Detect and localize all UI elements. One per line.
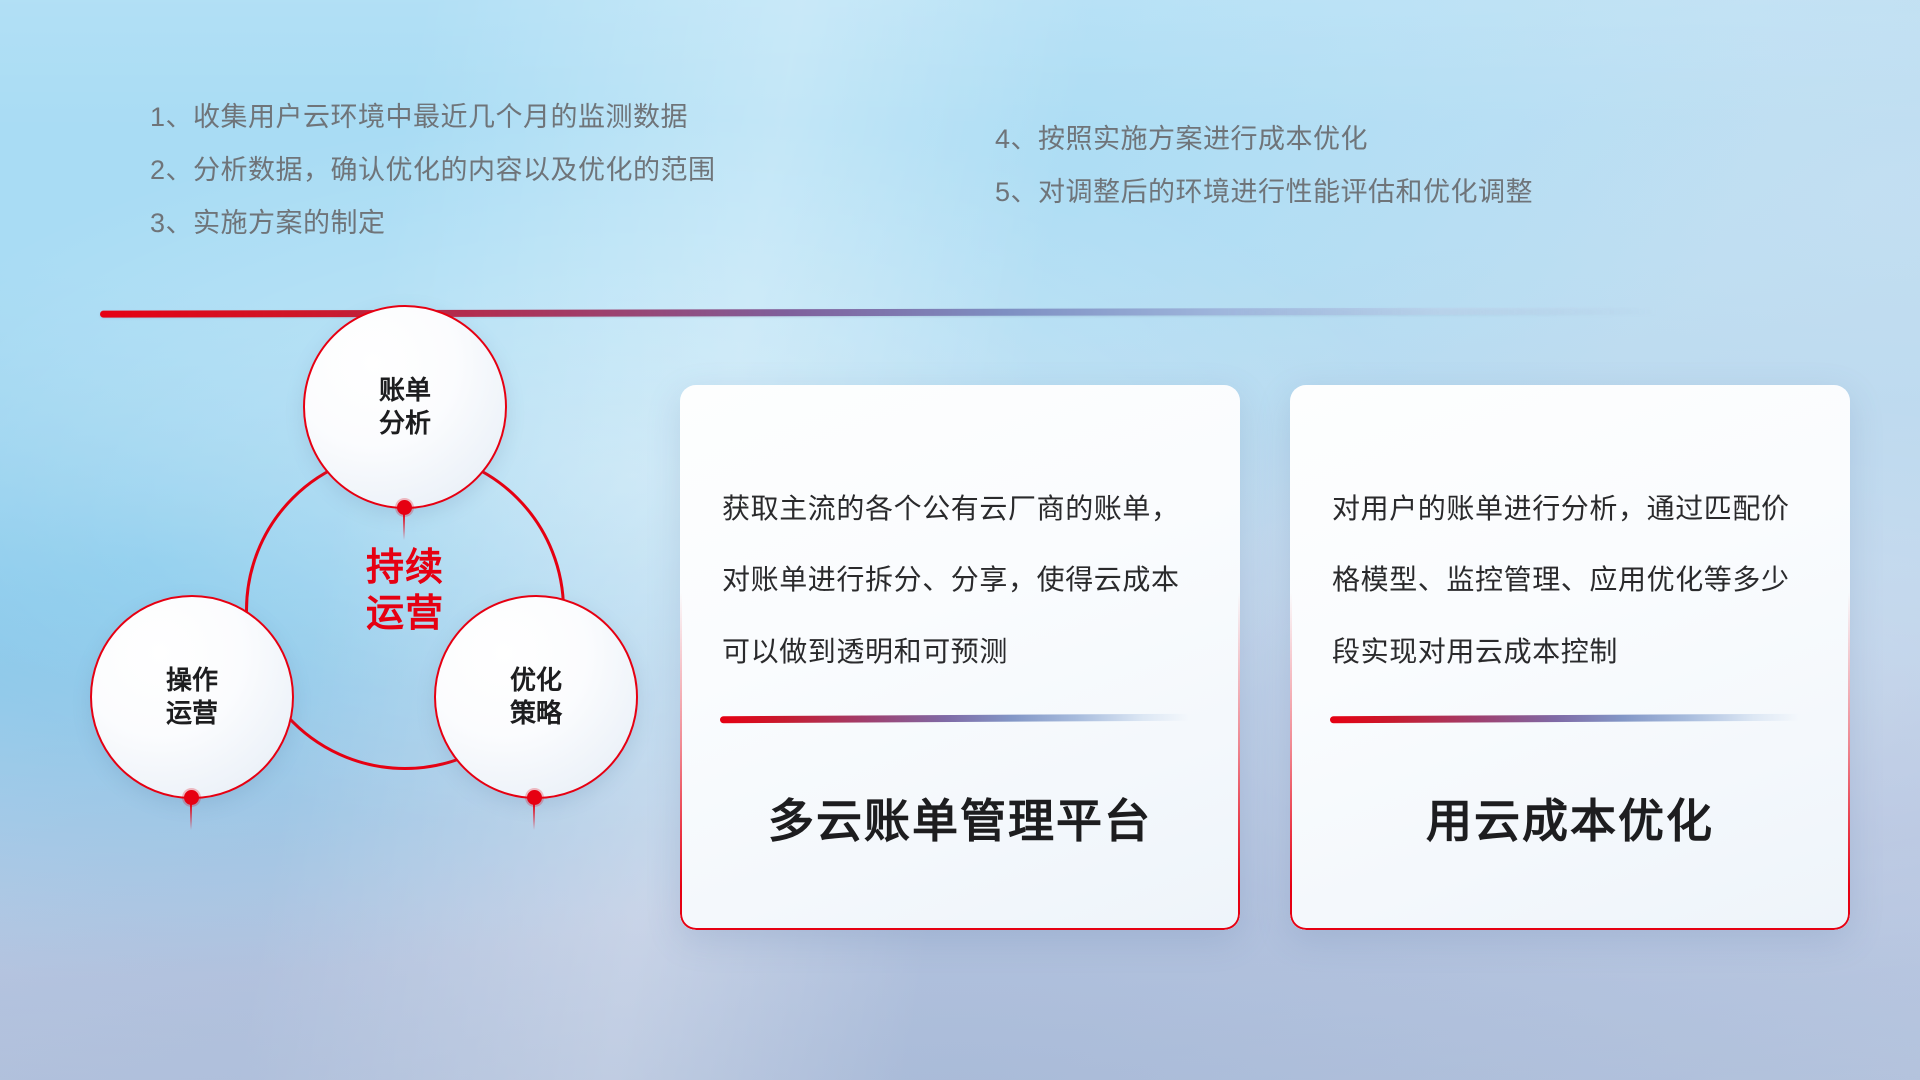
card-1-rule: [720, 714, 1190, 723]
card-multicloud-billing-platform[interactable]: 获取主流的各个公有云厂商的账单，对账单进行拆分、分享，使得云成本可以做到透明和可…: [680, 385, 1240, 930]
node-dot-right: [527, 790, 542, 805]
step-item-1: 1、收集用户云环境中最近几个月的监测数据: [150, 104, 716, 131]
step-item-3: 3、实施方案的制定: [150, 210, 716, 237]
diagram-center-label: 持续 运营: [305, 545, 505, 638]
node-tail-top: [403, 514, 405, 540]
node-dot-top: [397, 500, 412, 515]
continuous-operation-diagram: 账单 分析 操作 运营 优化 策略 持续 运营: [100, 340, 640, 940]
card-1-body: 获取主流的各个公有云厂商的账单，对账单进行拆分、分享，使得云成本可以做到透明和可…: [722, 473, 1202, 687]
card-2-body: 对用户的账单进行分析，通过匹配价格模型、监控管理、应用优化等多少段实现对用云成本…: [1332, 473, 1812, 687]
bubble-operations-line2: 运营: [166, 697, 218, 730]
diagram-center-label-line1: 持续: [305, 545, 505, 591]
card-2-title: 用云成本优化: [1290, 785, 1850, 851]
card-1-title: 多云账单管理平台: [680, 785, 1240, 851]
bubble-operations[interactable]: 操作 运营: [90, 595, 294, 799]
diagram-center-label-line2: 运营: [305, 591, 505, 637]
bubble-optimization-strategy-line2: 策略: [510, 697, 562, 730]
bubble-bill-analysis[interactable]: 账单 分析: [303, 305, 507, 509]
bubble-bill-analysis-line2: 分析: [379, 407, 431, 440]
steps-left-column: 1、收集用户云环境中最近几个月的监测数据 2、分析数据，确认优化的内容以及优化的…: [150, 104, 716, 263]
node-tail-right: [533, 804, 535, 830]
step-item-5: 5、对调整后的环境进行性能评估和优化调整: [995, 179, 1533, 206]
node-tail-left: [190, 804, 192, 830]
step-item-2: 2、分析数据，确认优化的内容以及优化的范围: [150, 157, 716, 184]
bubble-operations-line1: 操作: [166, 664, 218, 697]
steps-right-column: 4、按照实施方案进行成本优化 5、对调整后的环境进行性能评估和优化调整: [995, 126, 1533, 232]
bubble-optimization-strategy-line1: 优化: [510, 664, 562, 697]
node-dot-left: [184, 790, 199, 805]
bubble-bill-analysis-line1: 账单: [379, 374, 431, 407]
card-cloud-cost-optimization[interactable]: 对用户的账单进行分析，通过匹配价格模型、监控管理、应用优化等多少段实现对用云成本…: [1290, 385, 1850, 930]
step-item-4: 4、按照实施方案进行成本优化: [995, 126, 1533, 153]
card-2-rule: [1330, 714, 1800, 723]
